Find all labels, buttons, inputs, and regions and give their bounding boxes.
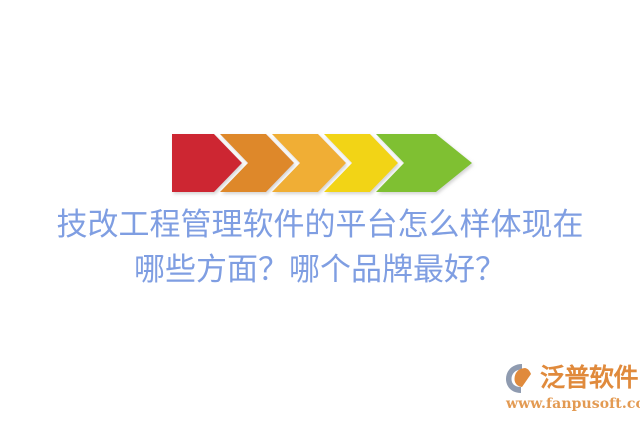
headline-line-2: 哪些方面？哪个品牌最好？ [0,248,640,293]
headline-line-1: 技改工程管理软件的平台怎么样体现在 [0,203,640,248]
brand-name: 泛普软件 [540,363,638,393]
banner-canvas: 技改工程管理软件的平台怎么样体现在 哪些方面？哪个品牌最好？ 泛普软件 www.… [0,0,640,427]
fanpu-logo-icon [505,362,539,394]
five-step-chevron-arrow [170,126,480,200]
page-title: 技改工程管理软件的平台怎么样体现在 哪些方面？哪个品牌最好？ [0,203,640,293]
brand-watermark: 泛普软件 www.fanpusoft.com [505,361,633,417]
brand-url: www.fanpusoft.com [506,396,633,412]
brand-logo-row: 泛普软件 [505,361,633,395]
